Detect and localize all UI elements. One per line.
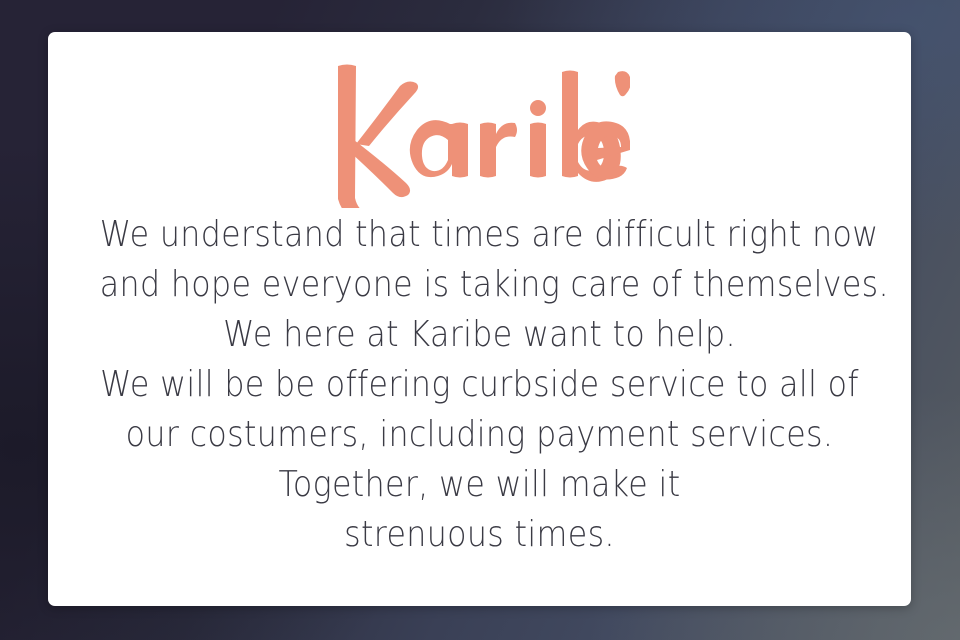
message-line: and hope everyone is taking care of them… (100, 260, 859, 310)
message-line: We here at Karibe want to help. (100, 310, 859, 360)
poster-background: We understand that times are difficult r… (0, 0, 960, 640)
apostrophe-icon (614, 71, 629, 96)
message-line: We understand that times are difficult r… (100, 210, 859, 260)
announcement-message: We understand that times are difficult r… (48, 210, 911, 560)
karibe-wordmark-icon (330, 58, 630, 208)
message-line: strenuous times. (100, 510, 859, 560)
message-line: We will be be offering curbside service … (100, 360, 859, 410)
message-line: Together, we will make it (100, 460, 859, 510)
announcement-card: We understand that times are difficult r… (48, 32, 911, 606)
karibe-logo (48, 58, 911, 208)
message-line: our costumers, including payment service… (100, 410, 859, 460)
